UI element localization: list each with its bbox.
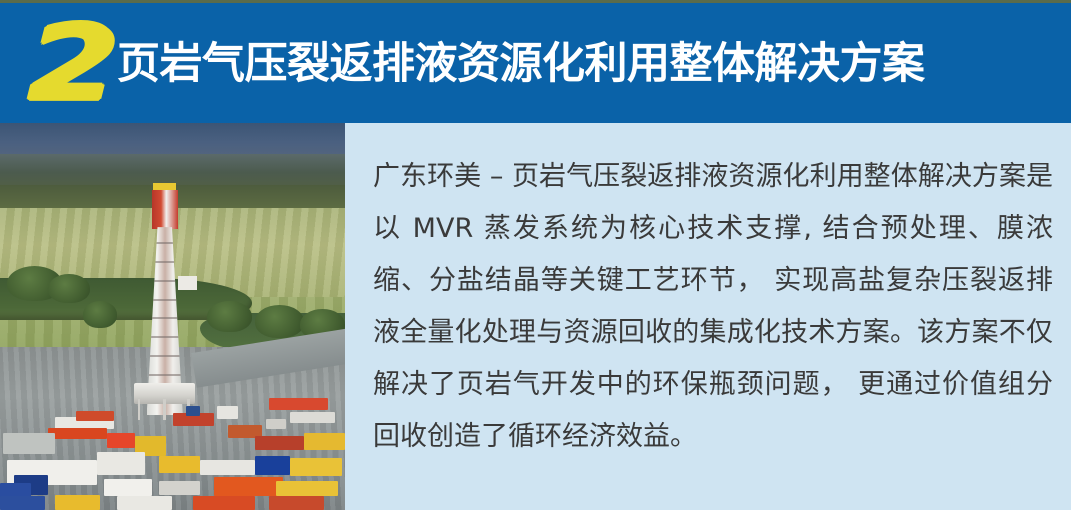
photo-site-equipment	[159, 481, 200, 495]
photo-site-equipment	[48, 428, 107, 439]
photo-site-equipment	[290, 458, 342, 476]
drilling-rig-photo	[0, 123, 345, 510]
photo-site-equipment	[214, 477, 283, 496]
derrick-lattice-bar	[147, 374, 182, 376]
photo-site-equipment	[3, 433, 55, 454]
photo-site-equipment	[269, 398, 328, 410]
photo-site-equipment	[269, 496, 324, 510]
description-panel: 广东环美 – 页岩气压裂返排液资源化利用整体解决方案是以 MVR 蒸发系统为核心…	[345, 123, 1071, 510]
section-header-bar: 2 页岩气压裂返排液资源化利用整体解决方案	[0, 3, 1071, 123]
photo-tree	[255, 305, 303, 338]
photo-site-equipment	[200, 460, 255, 475]
derrick-side-platform	[178, 276, 196, 290]
derrick-lattice-bar	[148, 242, 181, 244]
derrick-lattice-bar	[147, 355, 182, 357]
photo-site-equipment	[276, 481, 338, 496]
section-body: 广东环美 – 页岩气压裂返排液资源化利用整体解决方案是以 MVR 蒸发系统为核心…	[0, 123, 1071, 510]
photo-tree	[83, 301, 118, 328]
photo-site-equipment	[117, 496, 172, 510]
photo-site-equipment	[104, 479, 152, 496]
derrick-leg	[138, 399, 141, 420]
derrick-lattice-bar	[147, 317, 182, 319]
photo-site-equipment	[107, 433, 135, 448]
photo-site-equipment	[159, 456, 200, 473]
photo-sky	[0, 123, 345, 158]
photo-site-equipment	[255, 456, 290, 475]
derrick-lattice-bar	[148, 299, 182, 301]
solution-section-card: 2 页岩气压裂返排液资源化利用整体解决方案	[0, 0, 1071, 510]
derrick-upper-red-section	[152, 190, 178, 229]
photo-tree	[48, 274, 89, 303]
derrick-lattice-bar	[148, 280, 182, 282]
photo-site-equipment	[186, 406, 200, 416]
photo-site-equipment	[266, 419, 287, 429]
photo-site-equipment	[193, 496, 255, 510]
photo-drilling-derrick	[147, 183, 183, 415]
photo-site-equipment	[304, 433, 345, 450]
page-title: 页岩气压裂返排液资源化利用整体解决方案	[117, 33, 925, 95]
photo-site-equipment	[97, 452, 145, 475]
photo-site-equipment	[0, 496, 45, 510]
photo-tree	[207, 301, 252, 332]
description-paragraph: 广东环美 – 页岩气压裂返排液资源化利用整体解决方案是以 MVR 蒸发系统为核心…	[373, 151, 1053, 463]
photo-site-equipment	[290, 412, 335, 424]
derrick-leg	[163, 399, 166, 420]
derrick-lattice-bar	[147, 336, 182, 338]
photo-site-equipment	[55, 495, 100, 510]
photo-site-equipment	[76, 411, 114, 420]
photo-site-equipment	[255, 436, 303, 450]
derrick-lattice-bar	[148, 261, 181, 263]
photo-site-equipment	[217, 406, 238, 419]
